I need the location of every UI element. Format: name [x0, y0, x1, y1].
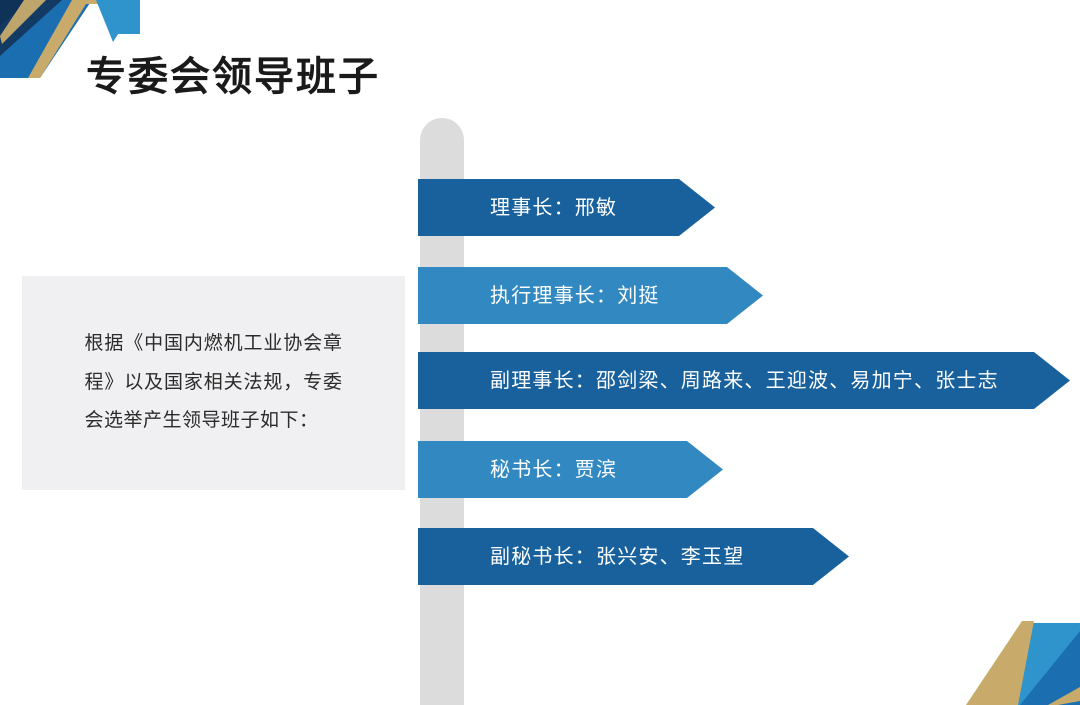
org-chart-arrow-label: 副理事长：邵剑梁、周路来、王迎波、易加宁、张士志 [490, 371, 999, 391]
org-chart-arrow-executive-chairman[interactable]: 执行理事长：刘挺 [418, 267, 763, 324]
org-chart-arrow-label: 执行理事长：刘挺 [490, 286, 660, 306]
org-chart-arrow-secretary-general[interactable]: 秘书长：贾滨 [418, 441, 723, 498]
org-chart-arrow-label: 秘书长：贾滨 [490, 460, 617, 480]
presentation-slide: 专委会领导班子 根据《中国内燃机工业协会章程》以及国家相关法规，专委会选举产生领… [0, 0, 1080, 705]
org-chart-arrow-vice-chairmen[interactable]: 副理事长：邵剑梁、周路来、王迎波、易加宁、张士志 [418, 352, 1070, 409]
org-chart-arrow-list: 理事长：邢敏 执行理事长：刘挺 副理事长：邵剑梁、周路来、王迎波、易加宁、张士志… [0, 0, 1080, 705]
org-chart-arrow-deputy-secretaries-general[interactable]: 副秘书长：张兴安、李玉望 [418, 528, 849, 585]
org-chart-arrow-label: 理事长：邢敏 [490, 198, 617, 218]
org-chart-arrow-label: 副秘书长：张兴安、李玉望 [490, 547, 744, 567]
org-chart-arrow-chairman[interactable]: 理事长：邢敏 [418, 179, 715, 236]
